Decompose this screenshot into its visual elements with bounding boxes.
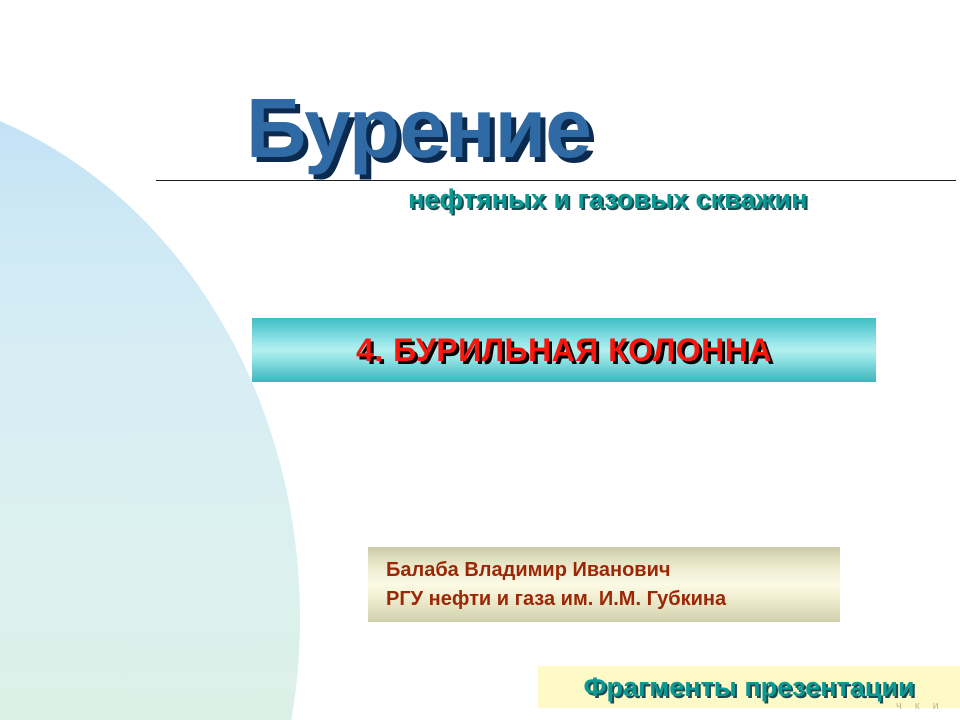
author-affiliation: РГУ нефти и газа им. И.М. Губкина — [386, 585, 840, 613]
section-banner: 4. БУРИЛЬНАЯ КОЛОННА — [252, 318, 876, 382]
background-ellipse-decoration — [0, 88, 300, 720]
horizontal-divider-line — [156, 180, 956, 181]
corner-watermark-marks: ч к и — [896, 700, 944, 712]
page-title: Бурение — [246, 86, 591, 170]
presentation-slide: Бурение нефтяных и газовых скважин 4. БУ… — [0, 0, 960, 720]
author-name: Балаба Владимир Иванович — [386, 556, 840, 584]
page-subtitle: нефтяных и газовых скважин — [408, 186, 807, 213]
section-banner-label: 4. БУРИЛЬНАЯ КОЛОННА — [356, 332, 772, 369]
author-credit-box: Балаба Владимир Иванович РГУ нефти и газ… — [368, 547, 840, 622]
footer-label: Фрагменты презентации — [583, 672, 914, 703]
